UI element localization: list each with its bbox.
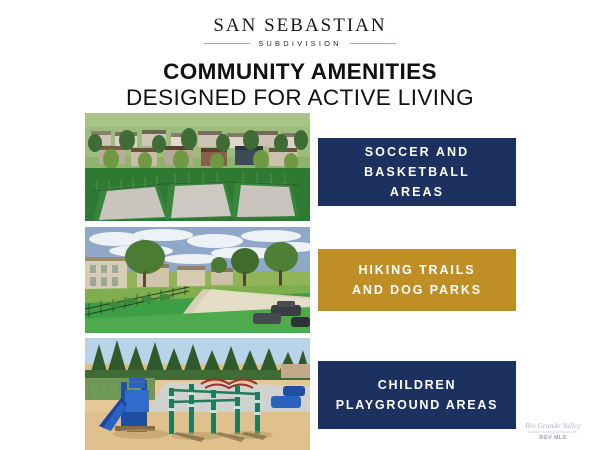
amenity-photo-hiking-dog-parks <box>85 227 310 333</box>
brand-rule-line-left <box>204 43 250 44</box>
amenity-label-line-1: CHILDREN <box>336 375 499 395</box>
page-title: COMMUNITY AMENITIES <box>0 59 600 84</box>
watermark-mls-label: RGV MLS <box>516 435 590 441</box>
amenity-label-soccer-basketball[interactable]: SOCCER AND BASKETBALL AREAS <box>318 138 516 206</box>
brand-rule: SUBDIVISION <box>0 39 600 48</box>
rgv-mls-watermark: Rio Grande Valley Multiple Listing Servi… <box>516 422 590 441</box>
amenity-label-line-1: HIKING TRAILS <box>352 260 482 280</box>
aerial-subdivision-sports-courts-render <box>85 113 310 221</box>
page-subtitle: DESIGNED FOR ACTIVE LIVING <box>0 85 600 110</box>
amenity-label-text: CHILDREN PLAYGROUND AREAS <box>330 375 505 416</box>
slide-header: SAN SEBASTIAN SUBDIVISION COMMUNITY AMEN… <box>0 0 600 110</box>
amenity-label-text: SOCCER AND BASKETBALL AREAS <box>358 142 476 203</box>
amenity-label-children-playground[interactable]: CHILDREN PLAYGROUND AREAS <box>318 361 516 429</box>
brand-subtitle: SUBDIVISION <box>258 39 342 48</box>
brand-name: SAN SEBASTIAN <box>0 16 600 36</box>
amenity-label-line-2: PLAYGROUND AREAS <box>336 395 499 415</box>
brand-rule-line-right <box>350 43 396 44</box>
amenity-label-line-2: BASKETBALL <box>364 162 470 182</box>
watermark-script-text: Rio Grande Valley <box>516 422 590 430</box>
childrens-playground-photo <box>85 338 310 450</box>
park-greenbelt-walking-path-render <box>85 227 310 333</box>
amenity-label-line-2: AND DOG PARKS <box>352 280 482 300</box>
list-item: CHILDREN PLAYGROUND AREAS <box>0 338 600 450</box>
amenity-label-hiking-dog-parks[interactable]: HIKING TRAILS AND DOG PARKS <box>318 249 516 311</box>
amenity-photo-children-playground <box>85 338 310 450</box>
amenity-label-text: HIKING TRAILS AND DOG PARKS <box>346 260 488 301</box>
amenity-photo-soccer-basketball <box>85 113 310 221</box>
amenity-label-line-1: SOCCER AND <box>364 142 470 162</box>
list-item: SOCCER AND BASKETBALL AREAS <box>0 113 600 221</box>
amenity-label-line-3: AREAS <box>364 182 470 202</box>
watermark-tagline: Multiple Listing Service, Inc. <box>516 430 590 434</box>
list-item: HIKING TRAILS AND DOG PARKS <box>0 227 600 333</box>
